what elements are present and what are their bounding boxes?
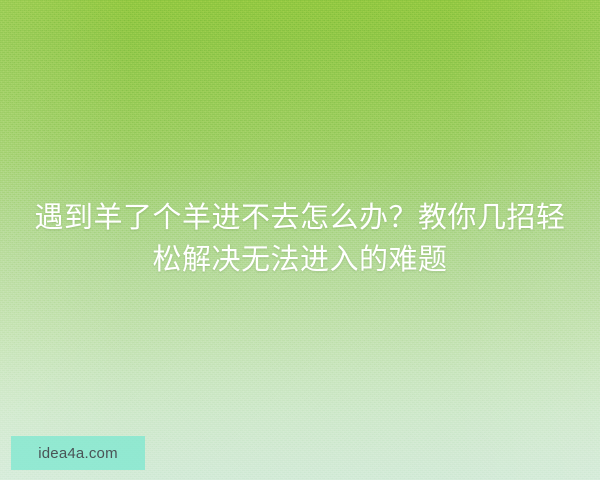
page-title: 遇到羊了个羊进不去怎么办？教你几招轻松解决无法进入的难题 [0, 196, 600, 280]
watermark-label: idea4a.com [38, 445, 118, 462]
watermark-badge: idea4a.com [11, 436, 145, 470]
article-cover-banner: 遇到羊了个羊进不去怎么办？教你几招轻松解决无法进入的难题 idea4a.com [0, 0, 600, 480]
